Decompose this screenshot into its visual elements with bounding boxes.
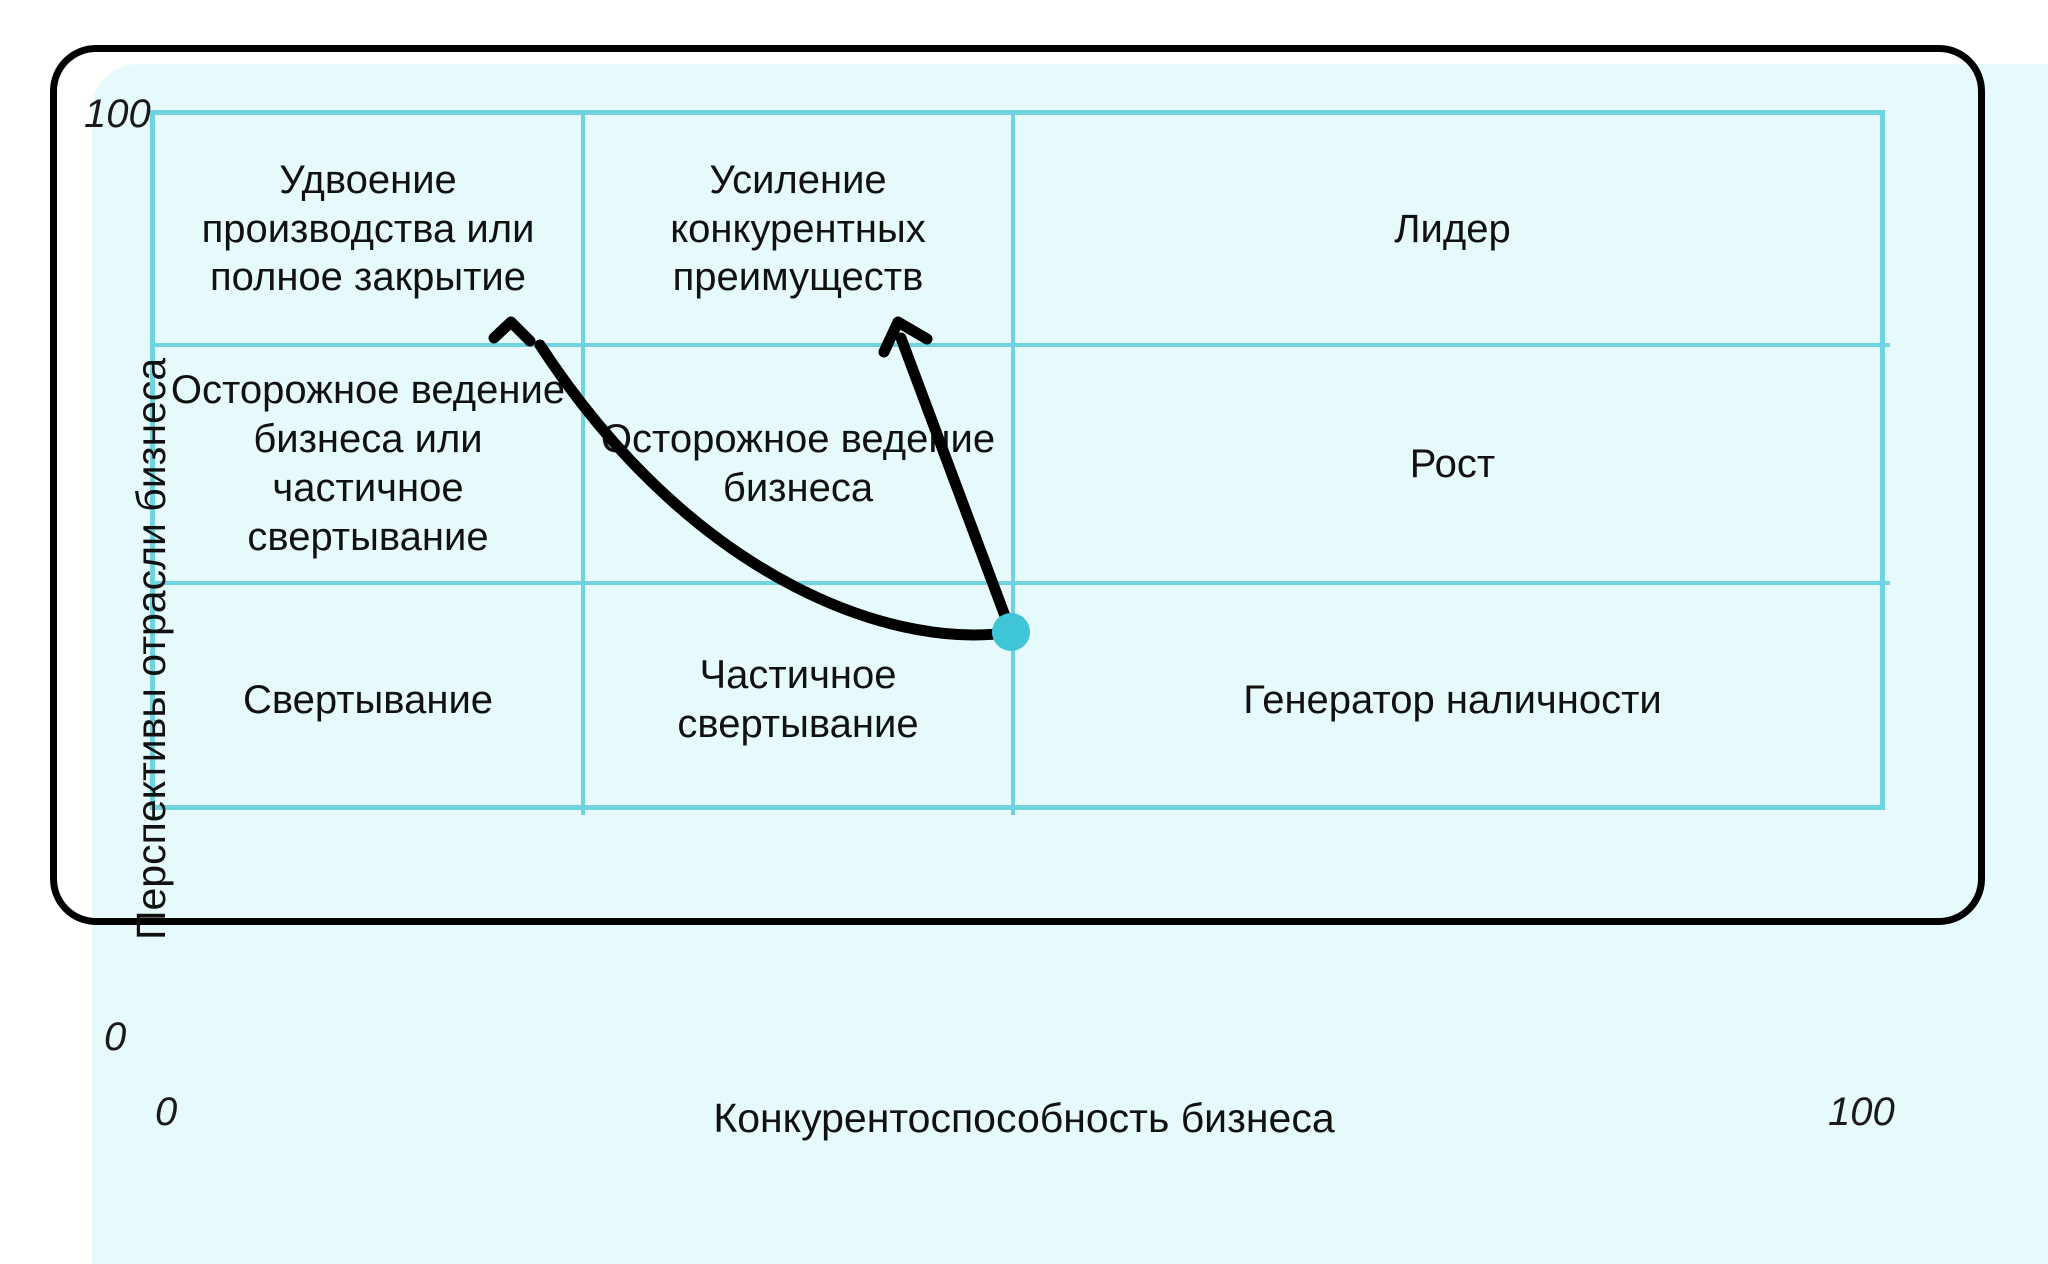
y-axis-title: Перспективы отрасли бизнеса <box>128 358 175 940</box>
matrix-cell-r3c2[interactable]: Частичное свертывание <box>585 585 1015 815</box>
matrix-cell-r1c3[interactable]: Лидер <box>1015 115 1890 347</box>
matrix-cell-r1c2[interactable]: Усиление конкурентных преимуществ <box>585 115 1015 347</box>
diagram-canvas: Удвоение производства или полное закрыти… <box>0 0 2048 1264</box>
x-axis-title: Конкурентоспособность бизнеса <box>0 1095 2048 1142</box>
matrix-cell-r2c2[interactable]: Осторожное ведение бизнеса <box>585 347 1015 585</box>
y-axis-max-tick: 100 <box>84 92 151 137</box>
matrix-cell-r3c1[interactable]: Свертывание <box>155 585 585 815</box>
matrix-cell-r2c3[interactable]: Рост <box>1015 347 1890 585</box>
strategy-matrix-grid: Удвоение производства или полное закрыти… <box>150 110 1885 810</box>
matrix-cell-r1c1[interactable]: Удвоение производства или полное закрыти… <box>155 115 585 347</box>
matrix-cell-r2c1[interactable]: Осторожное ведение бизнеса или частичное… <box>155 347 585 585</box>
matrix-cell-r3c3[interactable]: Генератор наличности <box>1015 585 1890 815</box>
y-axis-min-tick: 0 <box>104 1015 126 1060</box>
